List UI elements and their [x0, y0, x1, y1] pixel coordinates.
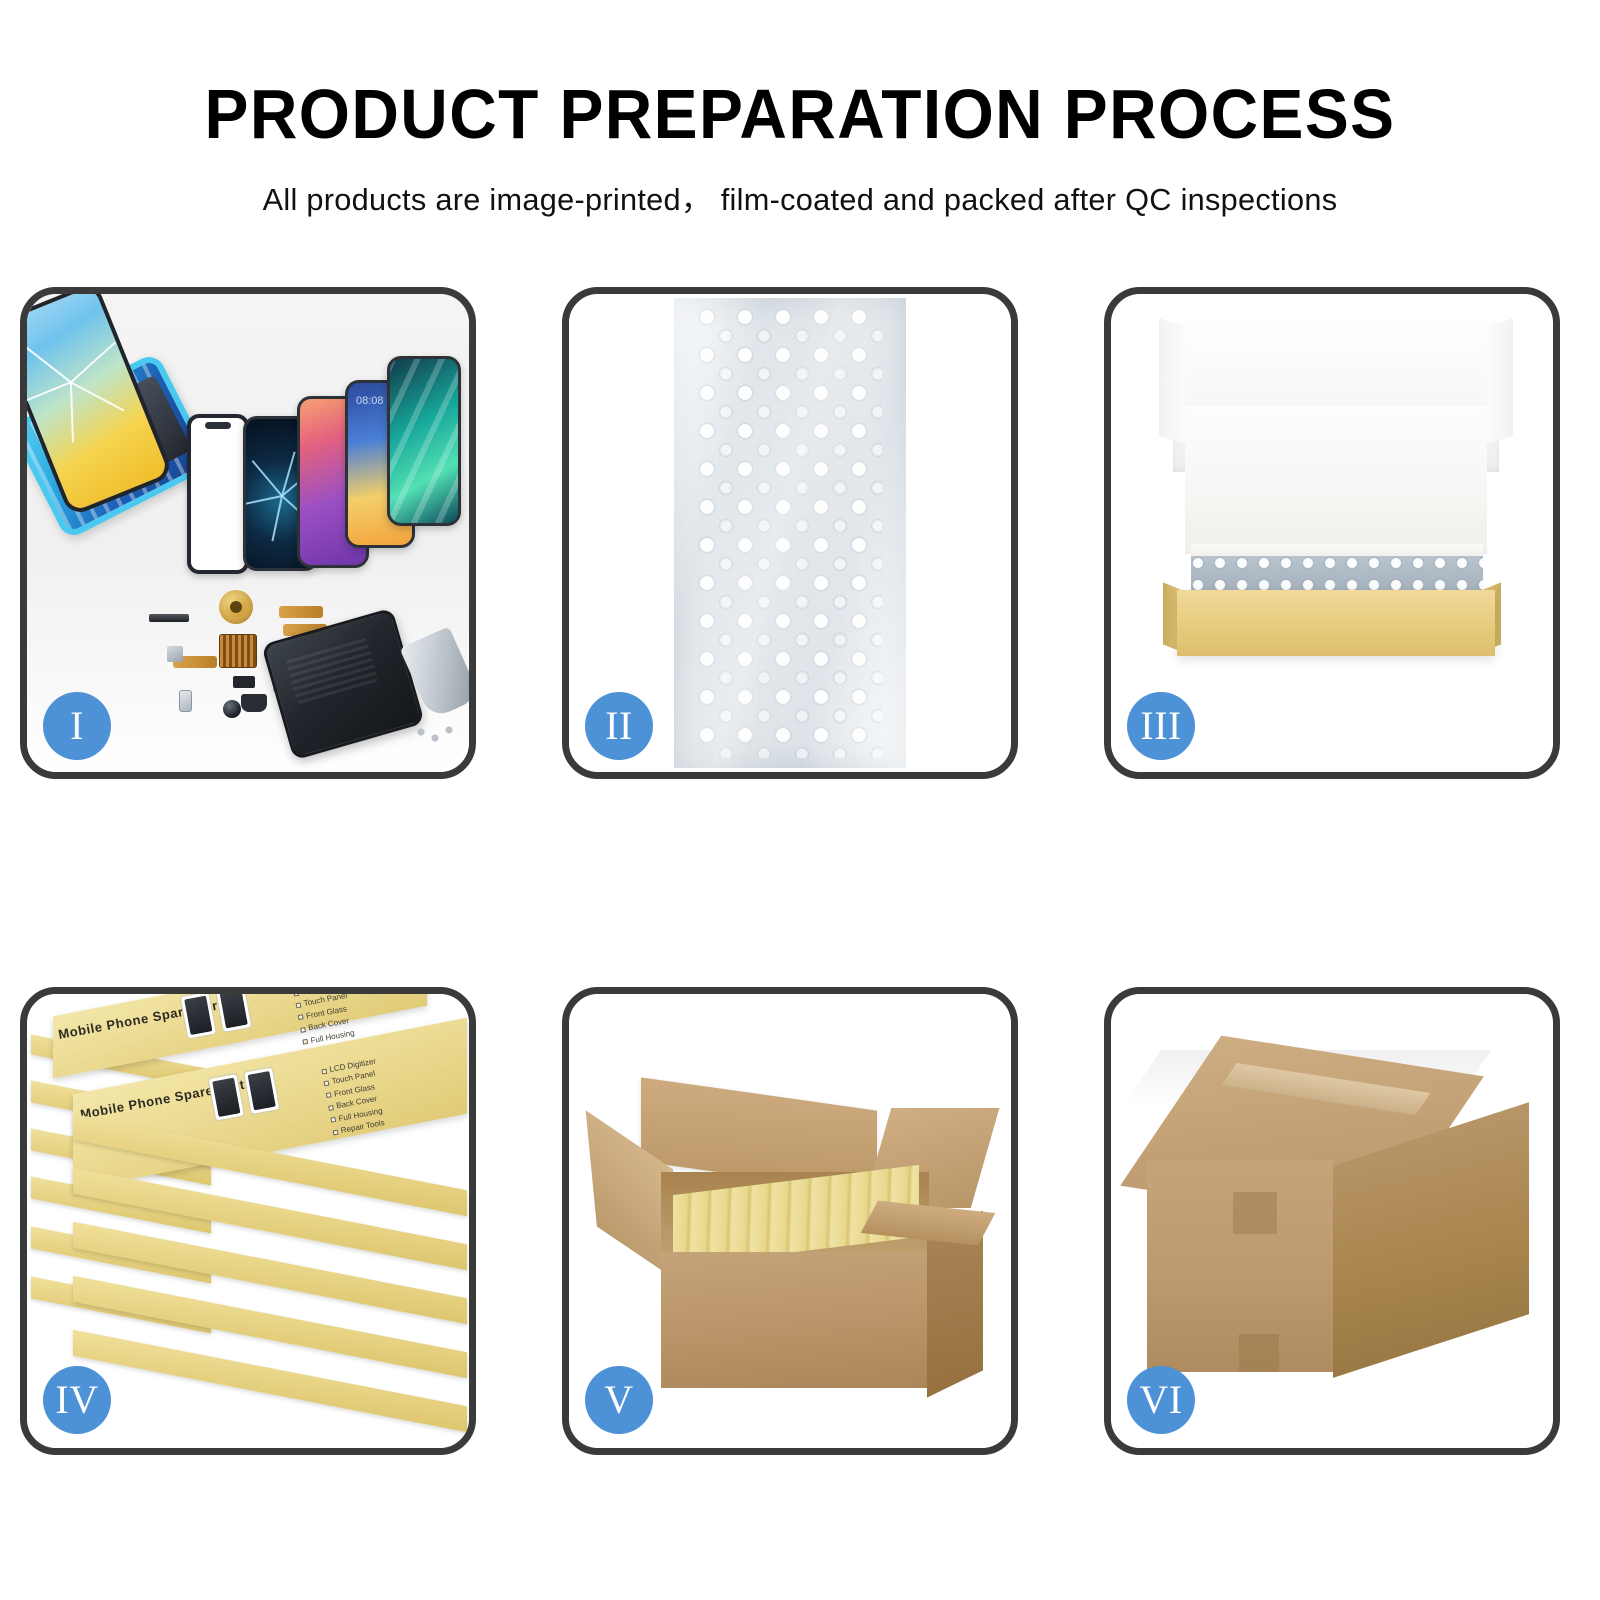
box-front-wall [1177, 590, 1495, 656]
step-badge-6: VI [1127, 1366, 1195, 1434]
speaker-part [241, 694, 267, 712]
screws-part [415, 724, 461, 746]
page-subtitle: All products are image-printed， film-coa… [8, 174, 1592, 219]
carton-body [661, 1252, 929, 1388]
page-title: PRODUCT PREPARATION PROCESS [48, 78, 1552, 152]
step-card-5[interactable]: V [562, 987, 1018, 1455]
step-card-2[interactable]: II [562, 287, 1018, 779]
step-badge-5: V [585, 1366, 653, 1434]
phone-clock-text: 08:08 [356, 395, 384, 407]
carton-tape-tab-upper [1233, 1192, 1277, 1234]
product-preparation-infographic: PRODUCT PREPARATION PROCESS All products… [0, 0, 1600, 1600]
header: PRODUCT PREPARATION PROCESS All products… [0, 78, 1600, 219]
step-badge-3: III [1127, 692, 1195, 760]
steps-grid: 08:08 [20, 287, 1580, 1482]
step-card-4[interactable]: Mobile Phone Spare Parts LCD Digitizer T… [20, 987, 476, 1455]
logic-chip-part [219, 634, 257, 668]
metal-bracket-part [167, 646, 183, 662]
step-card-6[interactable]: VI [1104, 987, 1560, 1455]
step-badge-2: II [585, 692, 653, 760]
battery-connector-part [233, 676, 255, 688]
steps-row-bottom: Mobile Phone Spare Parts LCD Digitizer T… [20, 987, 1580, 1482]
flex-cable-part-a [279, 606, 323, 618]
sim-tray-part [179, 690, 192, 712]
earpiece-mesh-part [149, 614, 189, 622]
screen-thumb-b [215, 994, 253, 1033]
teal-wave-display-phone [387, 356, 461, 526]
front-glass-part [187, 414, 249, 574]
carton-tape-tab-lower [1239, 1334, 1279, 1372]
step-badge-1: I [43, 692, 111, 760]
bubble-wrapped-product [674, 298, 906, 768]
wireless-coil-part [219, 590, 253, 624]
camera-module-part [223, 700, 241, 718]
step-badge-4: IV [43, 1366, 111, 1434]
step-card-1[interactable]: 08:08 [20, 287, 476, 779]
steps-row-top: 08:08 [20, 287, 1580, 782]
box-back-wall [1185, 406, 1487, 554]
step-card-3[interactable]: III [1104, 287, 1560, 779]
